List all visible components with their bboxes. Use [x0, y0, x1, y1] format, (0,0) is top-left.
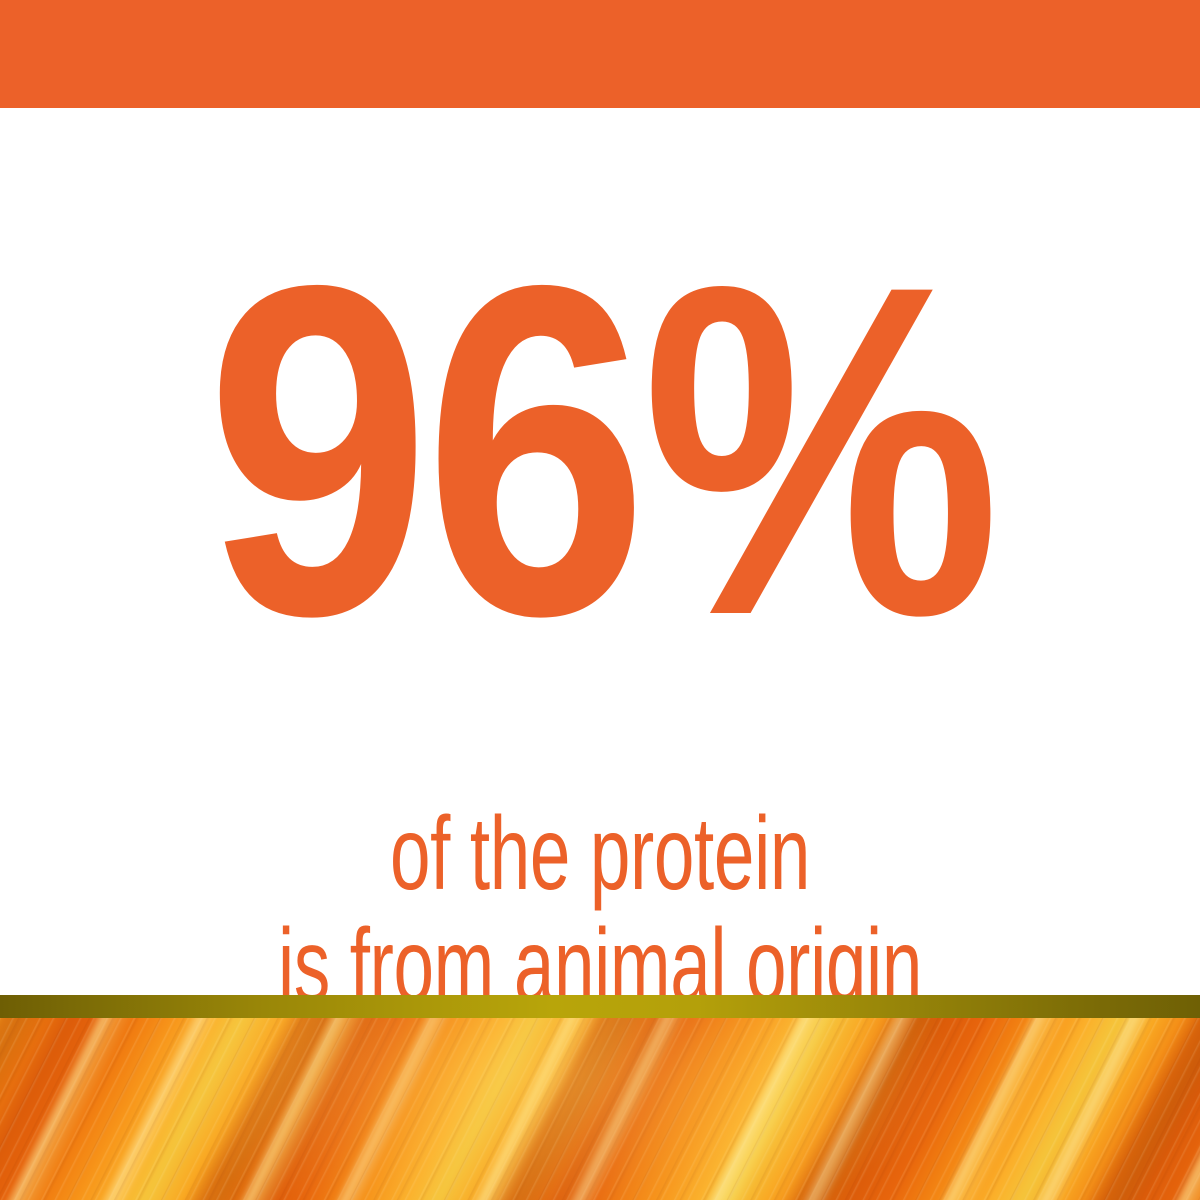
top-accent-bar — [0, 0, 1200, 108]
photo-lighting-shade — [0, 1018, 1200, 1200]
caption-line-1: of the protein — [180, 798, 1020, 910]
food-texture-photo — [0, 1018, 1200, 1200]
statistic-value: 96% — [84, 258, 1116, 643]
olive-gradient-divider — [0, 995, 1200, 1018]
statistic-block: 96% — [0, 258, 1200, 643]
content-area: 96% of the protein is from animal origin — [0, 108, 1200, 995]
caption-block: of the protein is from animal origin — [0, 798, 1200, 1023]
infographic-card: 96% of the protein is from animal origin — [0, 0, 1200, 1200]
